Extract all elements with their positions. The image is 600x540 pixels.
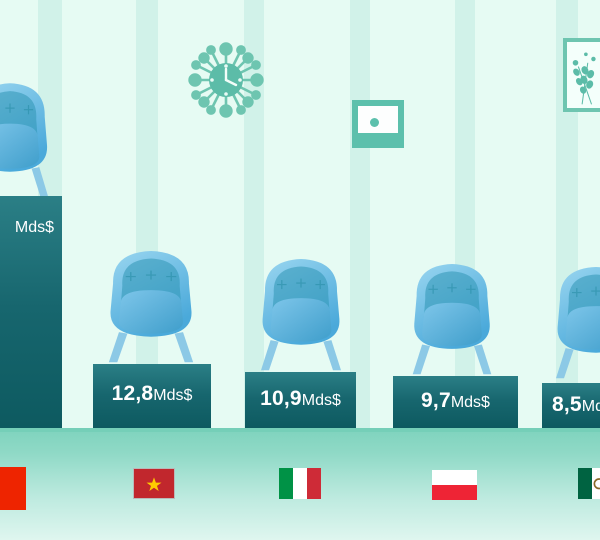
sunburst-clock-icon: [186, 40, 266, 120]
poland-flag: [432, 470, 477, 500]
bar-4-unit: Mds$: [451, 394, 490, 411]
armchair-icon: [540, 258, 600, 382]
picture-dot: [370, 118, 379, 127]
mexico-flag: [578, 468, 600, 499]
bar-2-label: 12,8Mds$: [93, 382, 211, 406]
bar-2[interactable]: 12,8Mds$: [93, 364, 211, 428]
framed-picture-icon: [352, 100, 404, 148]
bar-4[interactable]: 9,7Mds$: [393, 376, 518, 428]
armchair-icon: [397, 255, 507, 378]
botanical-print-icon: [563, 38, 600, 112]
china-flag: [0, 467, 26, 510]
bar-2-value: 12,8: [112, 382, 154, 405]
bar-1-label: Mds$: [0, 214, 62, 238]
bar-3-label: 10,9Mds$: [245, 387, 356, 411]
infographic-chart: Mds$ 12,8Mds$ 10,9Mds$ 9,7Mds$ 8,5Mds$: [0, 0, 600, 540]
bar-5[interactable]: 8,5Mds$: [542, 383, 600, 428]
armchair-icon: [245, 250, 357, 374]
bar-5-value: 8,5: [552, 393, 582, 416]
floor-edge: [0, 428, 600, 432]
bar-5-unit: Mds$: [582, 398, 600, 415]
picture-canvas: [358, 106, 398, 133]
bar-4-label: 9,7Mds$: [393, 389, 518, 413]
bar-5-label: 8,5Mds$: [542, 393, 600, 417]
bar-3-unit: Mds$: [302, 392, 341, 409]
bar-4-value: 9,7: [421, 389, 451, 412]
armchair-icon: [0, 74, 64, 202]
italy-flag: [279, 468, 321, 499]
bar-1-unit: Mds$: [15, 219, 54, 236]
bar-1[interactable]: Mds$: [0, 196, 62, 428]
vietnam-flag: [133, 468, 175, 499]
bar-2-unit: Mds$: [153, 387, 192, 404]
bar-3-value: 10,9: [260, 387, 302, 410]
bar-3[interactable]: 10,9Mds$: [245, 372, 356, 428]
armchair-icon: [92, 242, 210, 366]
